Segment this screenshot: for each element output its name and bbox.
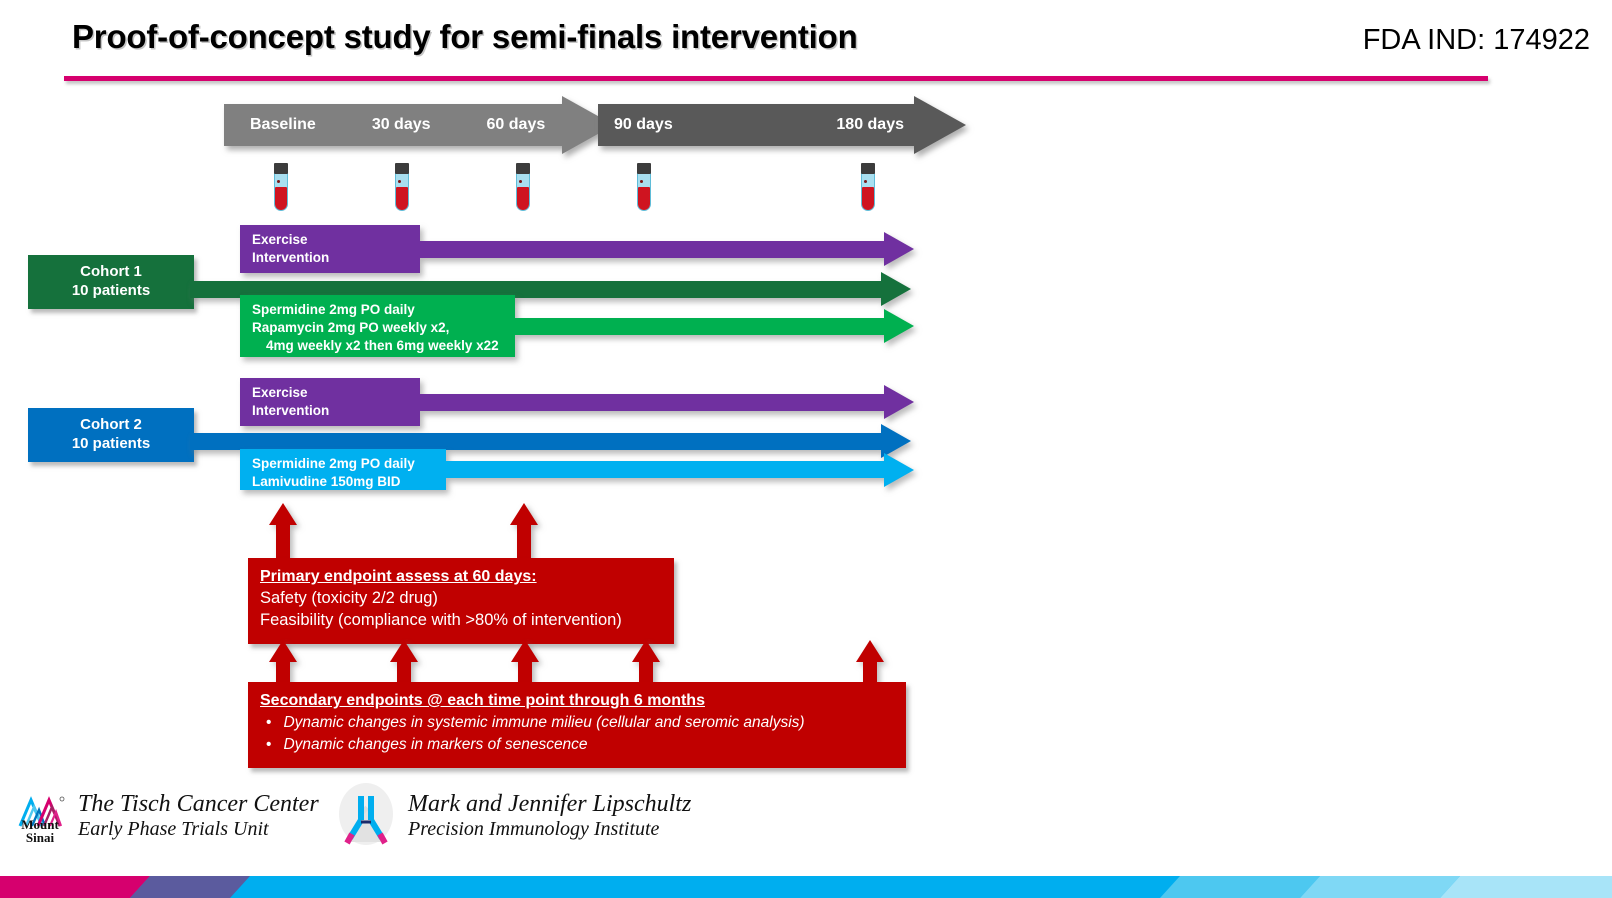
arrow-head [390,640,418,662]
exercise-line-1: Exercise [252,384,410,402]
slide-canvas: Proof-of-concept study for semi-finals i… [0,0,1612,898]
footer-org-2: Mark and Jennifer Lipschultz Precision I… [408,790,691,842]
footer-org-2-line-1: Mark and Jennifer Lipschultz [408,790,691,818]
bullet-text: Dynamic changes in markers of senescence [283,734,587,756]
tube-cap [861,163,875,174]
tube-cap [274,163,288,174]
mount-sinai-wordmark: Mount Sinai [12,818,68,845]
timeline-arrow-late-body: 90 days 180 days [598,104,914,146]
tube-bubble [277,180,280,183]
cohort-1-box[interactable]: Cohort 1 10 patients [28,255,194,309]
tube-bubble [519,180,522,183]
title-underline-rule [64,76,1488,81]
cohort-1-exercise-arrowhead [884,232,914,266]
blood-tube-icon [513,163,533,211]
arrow-head [511,640,539,662]
timepoint-baseline: Baseline [250,116,316,134]
drug-line-1: Spermidine 2mg PO daily [252,455,436,473]
tube-cap [637,163,651,174]
tube-cap [516,163,530,174]
arrow-head [510,503,538,525]
bullet-marker: • [266,734,271,756]
tube-blood [396,187,408,210]
bullet-marker: • [266,712,271,734]
wordmark-line-1: Mount [12,818,68,831]
timepoint-180-days: 180 days [836,116,904,134]
tube-blood [275,187,287,210]
cohort-1-name: Cohort 1 [80,263,142,282]
drug-line-3: 4mg weekly x2 then 6mg weekly x22 [252,337,505,355]
footer-org-1-line-1: The Tisch Cancer Center [78,790,319,818]
page-title: Proof-of-concept study for semi-finals i… [72,18,1072,56]
exercise-line-1: Exercise [252,231,410,249]
cohort-2-exercise-arm: Exercise Intervention [240,378,914,426]
cohort-2-drug-arm: Spermidine 2mg PO daily Lamivudine 150mg… [240,449,914,490]
timeline-arrow-late: 90 days 180 days [598,104,966,146]
cohort-2-box[interactable]: Cohort 2 10 patients [28,408,194,462]
footer-org-1: The Tisch Cancer Center Early Phase Tria… [78,790,319,842]
tube-bubble [398,180,401,183]
drug-line-1: Spermidine 2mg PO daily [252,301,505,319]
cohort-1-exercise-label: Exercise Intervention [240,225,420,273]
fda-ind-label: FDA IND: 174922 [1363,24,1590,57]
cohort-2-drug-label: Spermidine 2mg PO daily Lamivudine 150mg… [240,449,446,490]
exercise-line-2: Intervention [252,249,410,267]
bullet-text: Dynamic changes in systemic immune milie… [283,712,804,734]
timepoint-90-days: 90 days [614,116,673,134]
wordmark-line-2: Sinai [12,831,68,844]
cohort-1-drug-stem [515,318,884,335]
primary-endpoint-box: Primary endpoint assess at 60 days: Safe… [248,558,674,644]
cohort-2-drug-arrowhead [884,453,914,487]
tube-bubble [640,180,643,183]
timepoint-30-days: 30 days [372,116,431,134]
cohort-1-drug-arrowhead [884,309,914,343]
cohort-1-exercise-arm: Exercise Intervention [240,225,914,273]
timeline-arrow-late-head [914,96,966,154]
blood-tube-icon [858,163,878,211]
cohort-1-patients: 10 patients [72,282,150,301]
arrow-head [269,640,297,662]
exercise-line-2: Intervention [252,402,410,420]
drug-line-2: Rapamycin 2mg PO weekly x2, [252,319,505,337]
tube-cap [395,163,409,174]
secondary-endpoint-title: Secondary endpoints @ each time point th… [260,692,894,710]
drug-line-2: Lamivudine 150mg BID [252,473,436,491]
primary-endpoint-title: Primary endpoint assess at 60 days: [260,568,662,586]
primary-endpoint-line-2: Feasibility (compliance with >80% of int… [260,610,662,632]
footer-org-2-line-2: Precision Immunology Institute [408,818,691,842]
antibody-icon [332,776,400,848]
arrow-head [269,503,297,525]
cohort-2-exercise-label: Exercise Intervention [240,378,420,426]
cohort-2-name: Cohort 2 [80,416,142,435]
timeline-arrow-early-body: Baseline 30 days 60 days [224,104,562,146]
cohort-1-drug-label: Spermidine 2mg PO daily Rapamycin 2mg PO… [240,295,515,357]
cohort-1-exercise-stem [420,241,884,258]
blood-tube-icon [271,163,291,211]
tube-blood [862,187,874,210]
tube-bubble [864,180,867,183]
cohort-2-exercise-stem [420,394,884,411]
tube-blood [638,187,650,210]
timeline-arrow-early: Baseline 30 days 60 days [224,104,614,146]
list-item: • Dynamic changes in systemic immune mil… [260,712,894,734]
cohort-2-patients: 10 patients [72,435,150,454]
secondary-endpoint-box: Secondary endpoints @ each time point th… [248,682,906,768]
blood-tube-icon [392,163,412,211]
footer-org-1-line-2: Early Phase Trials Unit [78,818,319,842]
arrow-head [856,640,884,662]
timepoint-60-days: 60 days [487,116,546,134]
primary-endpoint-line-1: Safety (toxicity 2/2 drug) [260,588,662,610]
cohort-2-drug-stem [446,461,884,478]
list-item: • Dynamic changes in markers of senescen… [260,734,894,756]
blood-tube-icon [634,163,654,211]
cohort-2-exercise-arrowhead [884,385,914,419]
cohort-1-drug-arm: Spermidine 2mg PO daily Rapamycin 2mg PO… [240,295,914,357]
tube-blood [517,187,529,210]
secondary-endpoint-bullets: • Dynamic changes in systemic immune mil… [260,712,894,756]
footer-accent-bar [0,876,1612,898]
cohort-2-timeline-stem [190,433,881,450]
arrow-head [632,640,660,662]
